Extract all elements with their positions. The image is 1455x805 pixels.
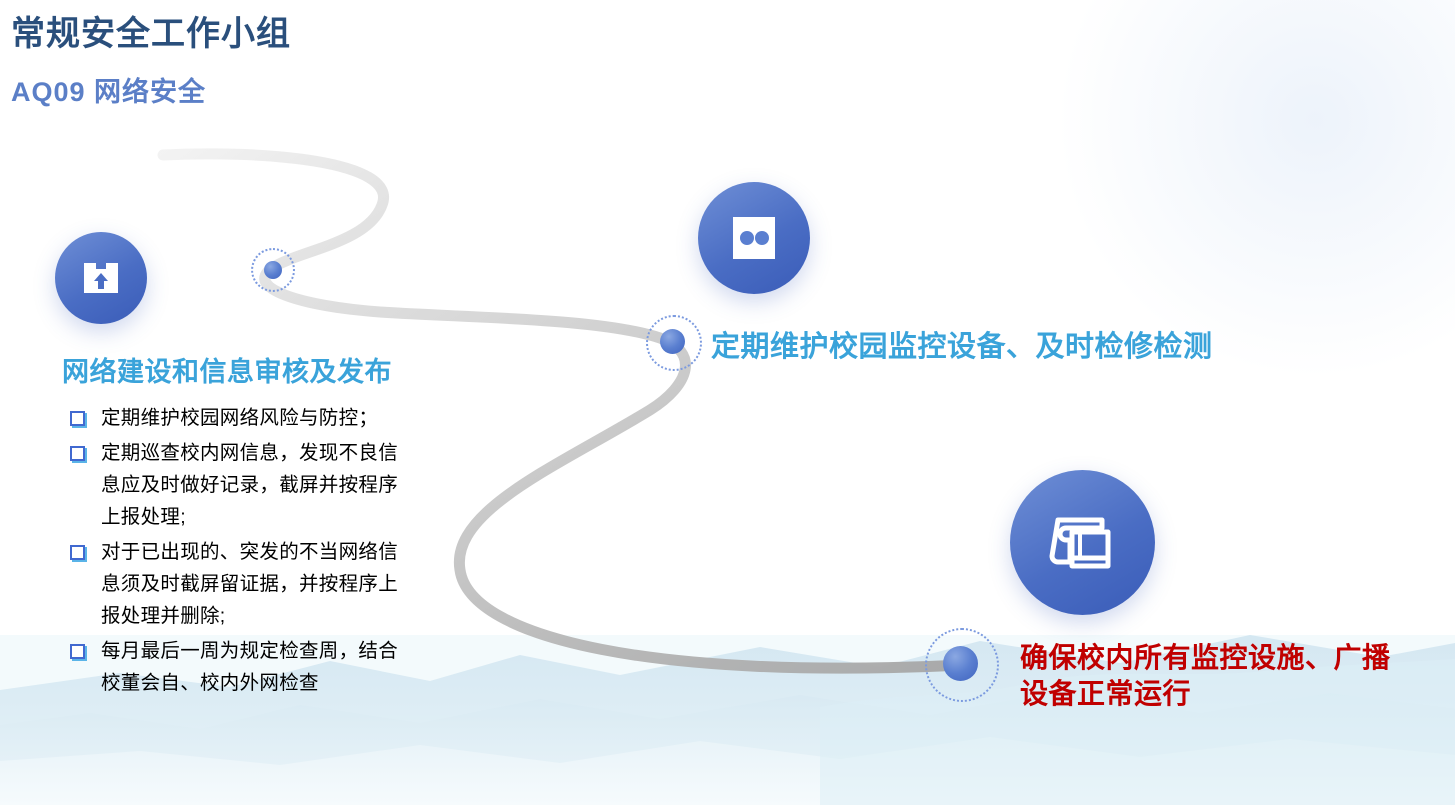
list-item-text: 定期巡查校内网信息，发现不良信息应及时做好记录，截屏并按程序上报处理; (101, 437, 407, 533)
list-item-text: 对于已出现的、突发的不当网络信息须及时截屏留证据，并按程序上报处理并删除; (101, 536, 407, 632)
list-item: 定期维护校园网络风险与防控； (62, 402, 407, 434)
section-heading-line-2: 设备正常运行 (1020, 678, 1191, 709)
node-dot-1 (264, 261, 282, 279)
page-subtitle: AQ09 网络安全 (11, 70, 206, 109)
upload-box-icon (55, 232, 147, 324)
section-heading-network-construction: 网络建设和信息审核及发布 (62, 350, 392, 389)
bullet-square-icon (70, 446, 85, 461)
bullet-square-icon (70, 644, 85, 659)
list-item: 每月最后一周为规定检查周，结合校董会自、校内外网检查 (62, 635, 407, 699)
bullet-list-network-construction: 定期维护校园网络风险与防控； 定期巡查校内网信息，发现不良信息应及时做好记录，截… (62, 402, 407, 702)
list-item-text: 定期维护校园网络风险与防控； (101, 402, 407, 434)
books-icon (1010, 470, 1155, 615)
node-marker-2 (646, 315, 702, 371)
books-glyph (1044, 504, 1122, 582)
section-heading-cctv-maintenance: 定期维护校园监控设备、及时检修检测 (711, 323, 1213, 365)
node-marker-3 (925, 628, 999, 702)
bullet-square-icon (70, 411, 85, 426)
list-item: 对于已出现的、突发的不当网络信息须及时截屏留证据，并按程序上报处理并删除; (62, 536, 407, 632)
section-heading-equipment-operation: 确保校内所有监控设施、广播 设备正常运行 (1020, 640, 1440, 712)
list-item: 定期巡查校内网信息，发现不良信息应及时做好记录，截屏并按程序上报处理; (62, 437, 407, 533)
monitor-two-dots-glyph (727, 211, 781, 265)
section-heading-line-1: 确保校内所有监控设施、广播 (1020, 642, 1391, 673)
bullet-square-icon (70, 545, 85, 560)
node-dot-3 (943, 646, 978, 681)
node-dot-2 (660, 329, 685, 354)
node-marker-1 (251, 248, 295, 292)
list-item-text: 每月最后一周为规定检查周，结合校董会自、校内外网检查 (101, 635, 407, 699)
upload-box-glyph (78, 255, 124, 301)
page-title: 常规安全工作小组 (11, 6, 291, 55)
monitor-two-dots-icon (698, 182, 810, 294)
slide-canvas: 常规安全工作小组 AQ09 网络安全 网络建设和信息审核及发布 定期维护校园网络… (0, 0, 1455, 805)
